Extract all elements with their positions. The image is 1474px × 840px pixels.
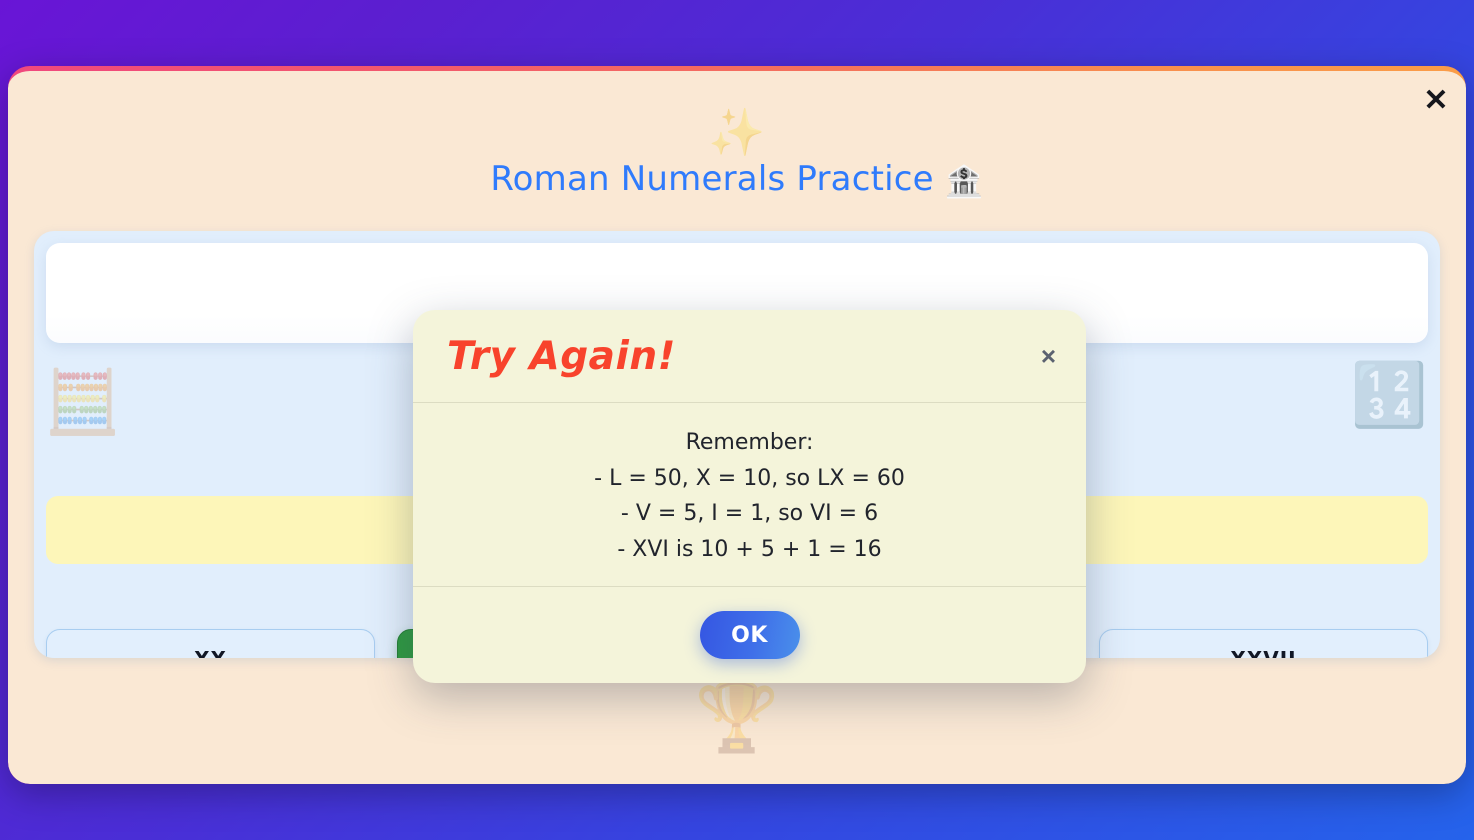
answer-option-1[interactable]: XX [46, 629, 375, 658]
page-title-text: Roman Numerals Practice [490, 159, 933, 199]
try-again-modal: Try Again! × Remember: - L = 50, X = 10,… [413, 310, 1086, 683]
modal-footer: OK [413, 587, 1086, 683]
app-card: ✕ ✨ Roman Numerals Practice 🏦 🧮 🔢 First,… [8, 66, 1466, 784]
modal-close-icon[interactable]: × [1041, 343, 1056, 369]
modal-ok-button[interactable]: OK [700, 611, 800, 659]
trophy-icon: 🏆 [8, 684, 1466, 752]
modal-line-3: - V = 5, I = 1, so VI = 6 [447, 496, 1052, 532]
input-numbers-icon: 🔢 [1351, 364, 1428, 426]
page-title: Roman Numerals Practice 🏦 [8, 161, 1466, 199]
sparkles-icon: ✨ [8, 109, 1466, 155]
modal-title: Try Again! [447, 337, 676, 376]
answer-option-4[interactable]: XXVII [1099, 629, 1428, 658]
classical-building-icon: 🏦 [945, 164, 984, 200]
abacus-icon: 🧮 [44, 371, 121, 433]
close-icon[interactable]: ✕ [1416, 81, 1456, 121]
modal-body: Remember: - L = 50, X = 10, so LX = 60 -… [413, 403, 1086, 587]
app-header: ✨ Roman Numerals Practice 🏦 [8, 71, 1466, 199]
modal-line-2: - L = 50, X = 10, so LX = 60 [447, 461, 1052, 497]
modal-header: Try Again! × [413, 310, 1086, 403]
modal-line-4: - XVI is 10 + 5 + 1 = 16 [447, 532, 1052, 568]
modal-line-1: Remember: [447, 425, 1052, 461]
